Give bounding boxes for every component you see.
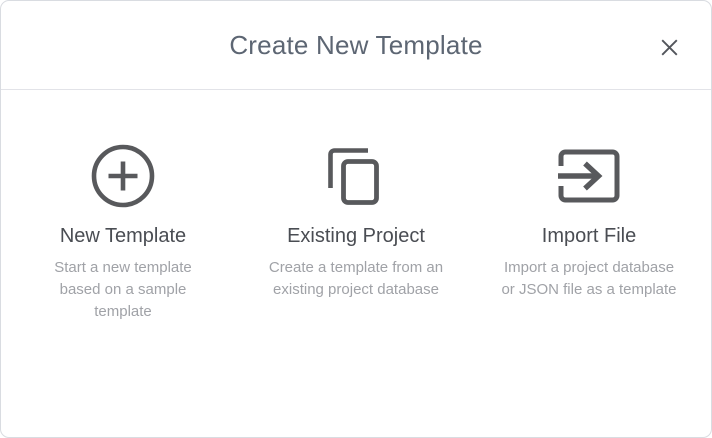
- option-title: Existing Project: [287, 224, 425, 248]
- option-existing-project[interactable]: Existing Project Create a template from …: [242, 138, 470, 301]
- option-description: Create a template from an existing proje…: [264, 257, 448, 301]
- option-title: Import File: [542, 224, 636, 248]
- option-new-template[interactable]: New Template Start a new template based …: [9, 138, 237, 323]
- option-description: Start a new template based on a sample t…: [35, 257, 211, 323]
- page-title: Create New Template: [229, 32, 482, 58]
- copy-icon: [324, 138, 388, 214]
- option-import-file[interactable]: Import File Import a project database or…: [475, 138, 703, 301]
- option-title: New Template: [60, 224, 186, 248]
- close-icon: [660, 38, 679, 57]
- dialog-header: Create New Template: [1, 1, 711, 90]
- option-description: Import a project database or JSON file a…: [496, 257, 682, 301]
- create-new-template-dialog: Create New Template New Template Star: [0, 0, 712, 438]
- template-source-options: New Template Start a new template based …: [1, 138, 711, 323]
- plus-circle-icon: [91, 138, 155, 214]
- dialog-body: New Template Start a new template based …: [1, 90, 711, 438]
- import-arrow-icon: [557, 138, 621, 214]
- close-button[interactable]: [651, 29, 687, 65]
